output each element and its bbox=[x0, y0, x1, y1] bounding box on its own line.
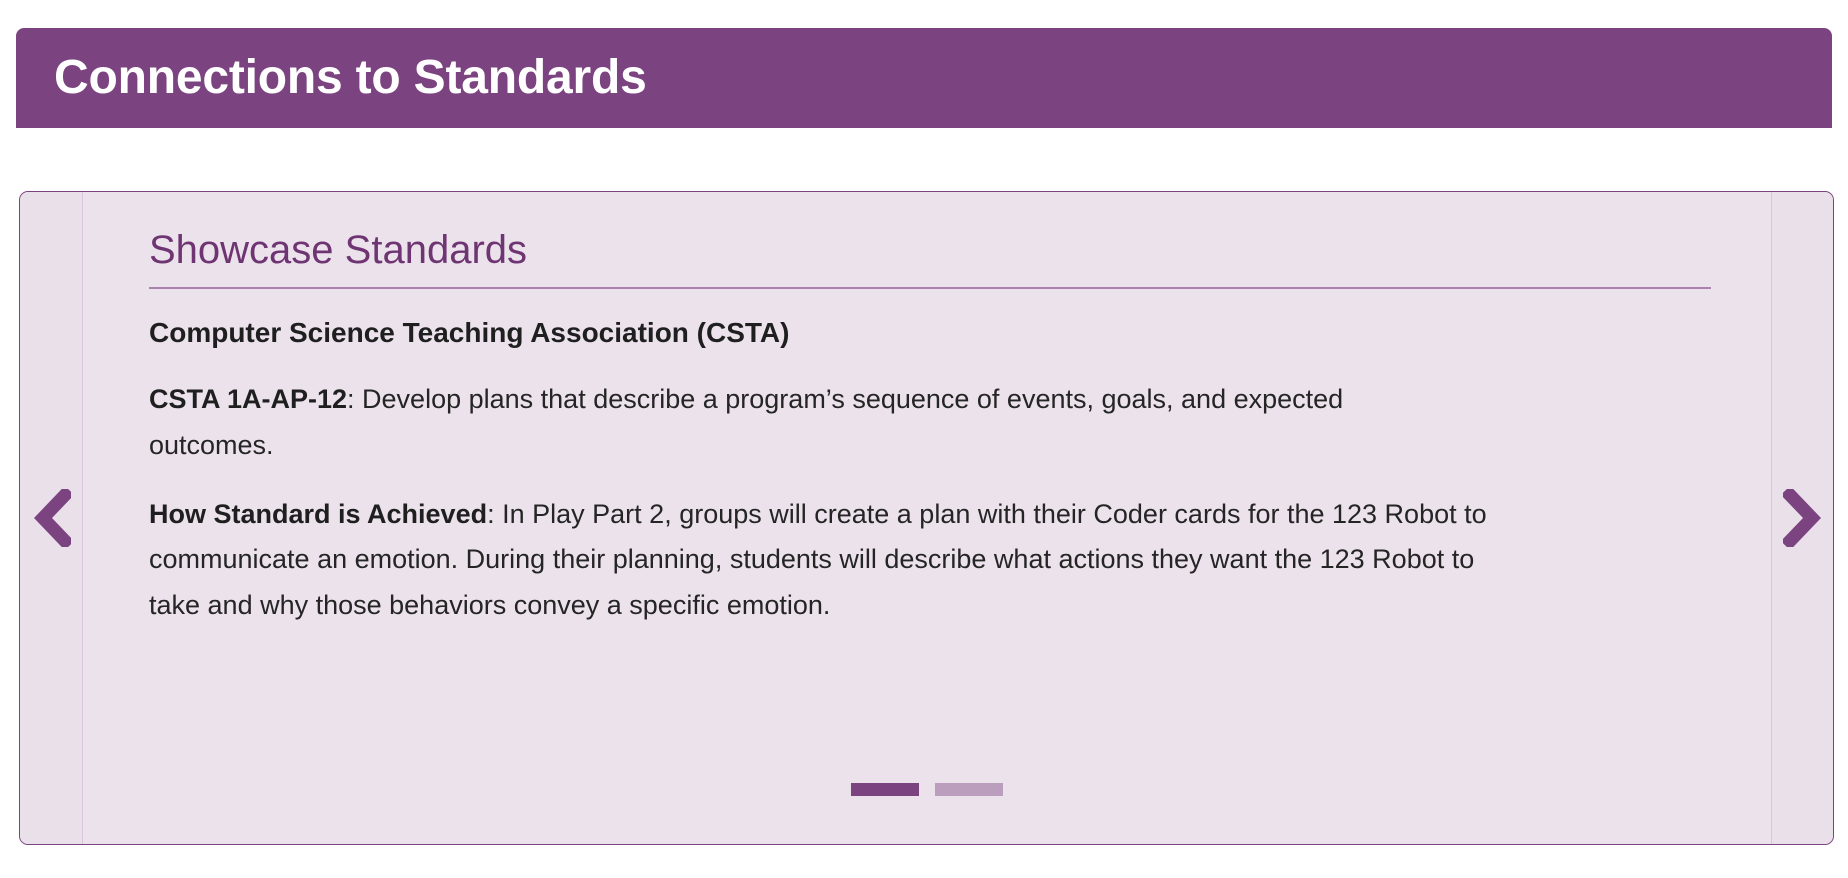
heading-divider bbox=[149, 287, 1711, 289]
page-header-bar: Connections to Standards bbox=[16, 28, 1832, 128]
standard-code-label: CSTA 1A-AP-12 bbox=[149, 384, 347, 414]
chevron-right-icon bbox=[1783, 489, 1823, 547]
carousel-pagination bbox=[83, 771, 1771, 844]
standards-carousel: Showcase Standards Computer Science Teac… bbox=[19, 191, 1834, 845]
chevron-left-icon bbox=[31, 489, 71, 547]
organization-name: Computer Science Teaching Association (C… bbox=[149, 315, 1711, 351]
carousel-prev-button[interactable] bbox=[20, 192, 83, 844]
pagination-item[interactable] bbox=[851, 783, 919, 796]
achievement-paragraph: How Standard is Achieved: In Play Part 2… bbox=[149, 492, 1521, 628]
achievement-label: How Standard is Achieved bbox=[149, 499, 487, 529]
achievement-separator: : bbox=[487, 499, 502, 529]
slide-heading: Showcase Standards bbox=[149, 227, 1711, 287]
slide-content: Showcase Standards Computer Science Teac… bbox=[83, 192, 1771, 771]
pagination-item[interactable] bbox=[935, 783, 1003, 796]
standards-page: Connections to Standards Showcase Standa… bbox=[0, 0, 1848, 878]
standard-separator: : bbox=[347, 384, 362, 414]
standard-paragraph: CSTA 1A-AP-12: Develop plans that descri… bbox=[149, 377, 1469, 468]
carousel-next-button[interactable] bbox=[1771, 192, 1834, 844]
carousel-slide: Showcase Standards Computer Science Teac… bbox=[83, 192, 1771, 844]
page-title: Connections to Standards bbox=[16, 54, 647, 102]
